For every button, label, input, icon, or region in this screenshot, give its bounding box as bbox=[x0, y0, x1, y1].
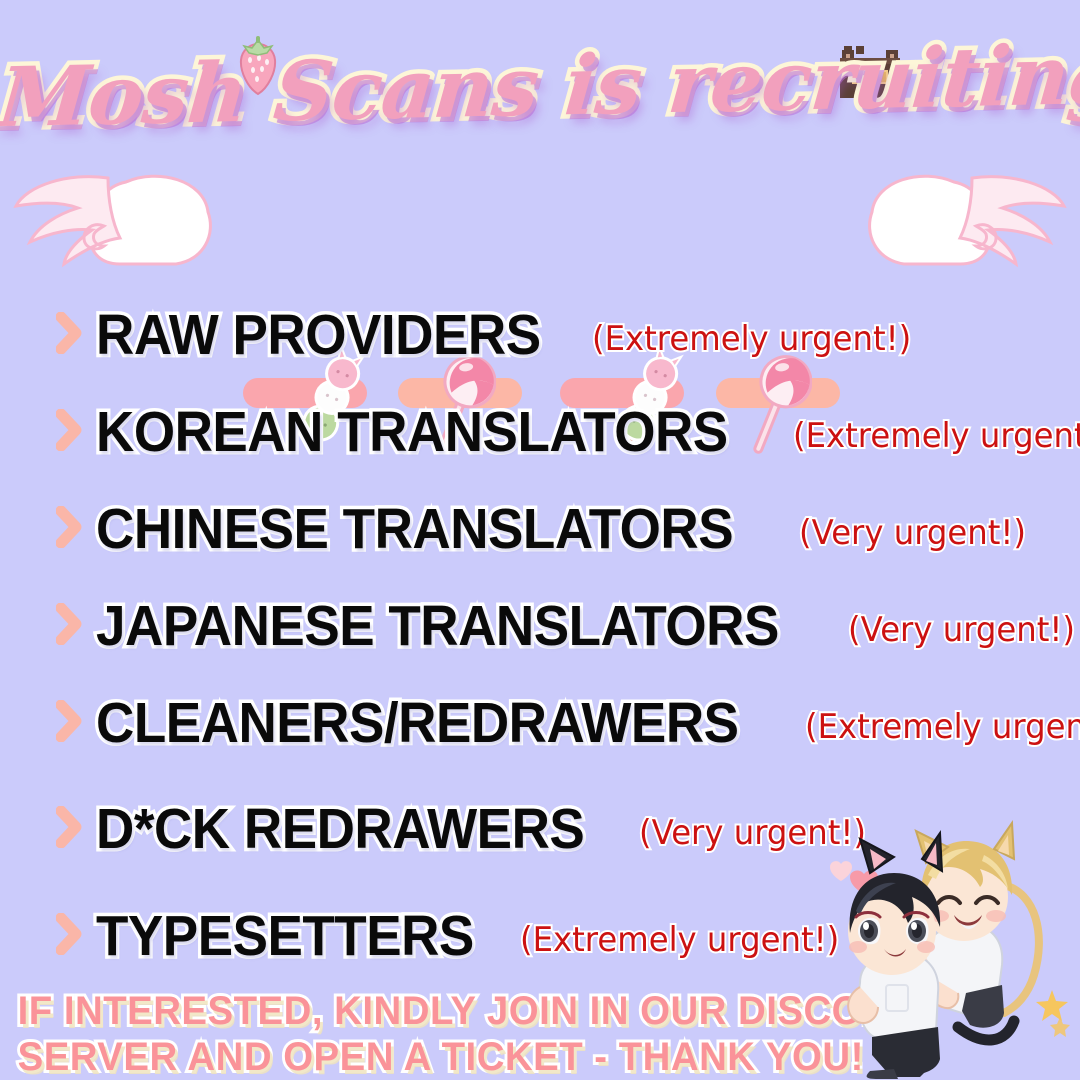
role-urgency: (Extremely urgent!) bbox=[520, 920, 839, 960]
chevron-right-icon bbox=[56, 700, 82, 742]
role-urgency: (Very urgent!) bbox=[848, 610, 1075, 650]
winged-cloud-icon bbox=[8, 160, 218, 285]
role-urgency: (Extremely urgent!) bbox=[805, 707, 1080, 747]
footer-line-1: IF INTERESTED, KINDLY JOIN IN OUR DISCOR… bbox=[18, 988, 863, 1034]
decorative-divider bbox=[0, 160, 1080, 290]
title-banner: Mosh Scans is recruiting! bbox=[0, 34, 1080, 154]
role-urgency: (Very urgent!) bbox=[799, 513, 1026, 553]
role-label: JAPANESE TRANSLATORS bbox=[96, 595, 779, 657]
strawberry-icon bbox=[228, 36, 288, 98]
role-row: KOREAN TRANSLATORS (Extremely urgent!) bbox=[56, 401, 1080, 463]
role-row: JAPANESE TRANSLATORS (Very urgent!) bbox=[56, 595, 1080, 657]
chevron-right-icon bbox=[56, 409, 82, 451]
footer-note: IF INTERESTED, KINDLY JOIN IN OUR DISCOR… bbox=[0, 988, 880, 1080]
role-urgency: (Extremely urgent!) bbox=[793, 416, 1080, 456]
chevron-right-icon bbox=[56, 506, 82, 548]
role-row: CHINESE TRANSLATORS (Very urgent!) bbox=[56, 498, 1038, 560]
role-row: TYPESETTERS (Extremely urgent!) bbox=[56, 905, 856, 967]
chibi-couple-cat-ears-illustration bbox=[798, 815, 1078, 1080]
chevron-right-icon bbox=[56, 312, 82, 354]
winged-cloud-icon bbox=[862, 160, 1072, 285]
chevron-right-icon bbox=[56, 806, 82, 848]
role-label: KOREAN TRANSLATORS bbox=[96, 401, 728, 463]
role-label: TYPESETTERS bbox=[96, 905, 474, 967]
role-label: D*CK REDRAWERS bbox=[96, 798, 584, 860]
page-title: Mosh Scans is recruiting! bbox=[0, 22, 1080, 150]
footer-line-2: SERVER AND OPEN A TICKET - THANK YOU! bbox=[18, 1034, 863, 1080]
recruitment-poster: Mosh Scans is recruiting! bbox=[0, 0, 1080, 1080]
role-row: RAW PROVIDERS (Extremely urgent!) bbox=[56, 304, 928, 366]
chevron-right-icon bbox=[56, 913, 82, 955]
role-label: CHINESE TRANSLATORS bbox=[96, 498, 733, 560]
role-row: CLEANERS/REDRAWERS (Extremely urgent!) bbox=[56, 692, 1080, 754]
role-label: CLEANERS/REDRAWERS bbox=[96, 692, 739, 754]
role-row: D*CK REDRAWERS (Very urgent!) bbox=[56, 798, 878, 860]
chevron-right-icon bbox=[56, 603, 82, 645]
stars-icon bbox=[1036, 990, 1070, 1037]
role-urgency: (Extremely urgent!) bbox=[592, 319, 911, 359]
role-label: RAW PROVIDERS bbox=[96, 304, 541, 366]
